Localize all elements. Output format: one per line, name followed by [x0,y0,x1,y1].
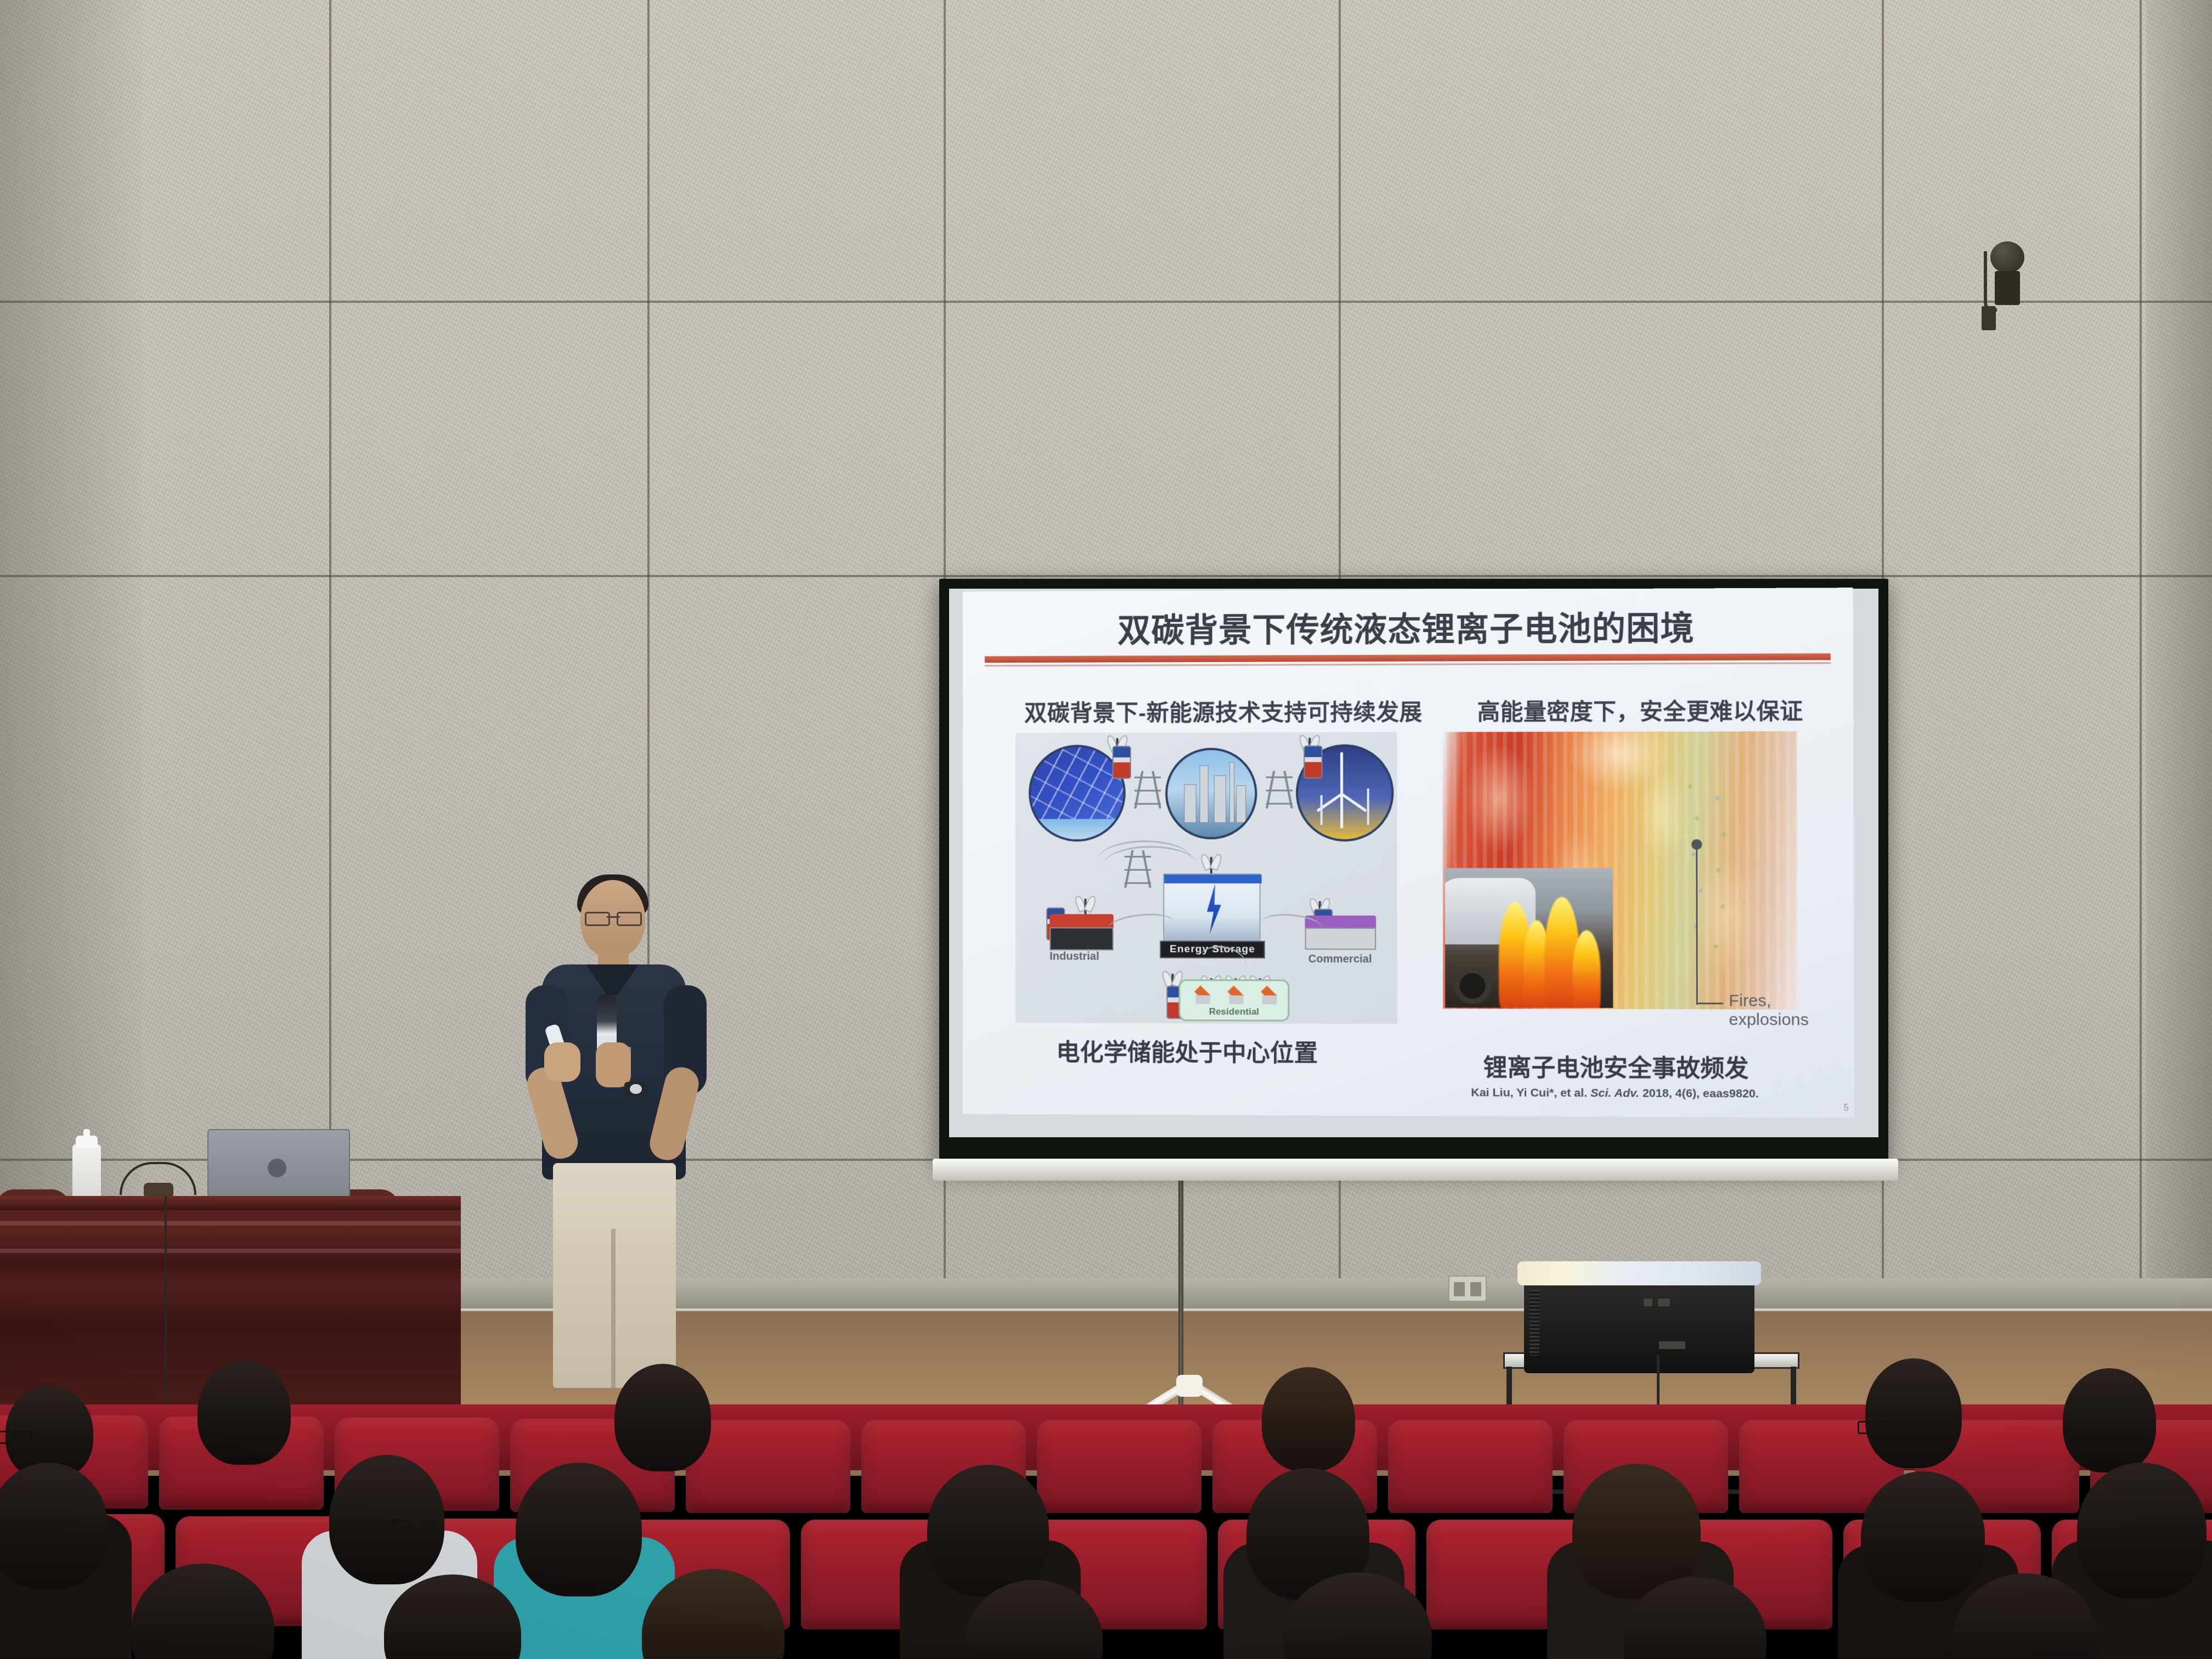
energy-grid-diagram: Energy Storage Industrial Commercial Res… [1015,732,1397,1024]
power-plant-icon [1165,748,1257,839]
podium-top-edge [0,1196,461,1210]
presenter-hand [544,1042,580,1082]
auditorium-seat [1037,1420,1201,1513]
plant-stack [1214,775,1226,822]
energy-storage-unit-icon [1163,873,1261,944]
plant-stack [1184,785,1196,823]
turbine-mast [1340,781,1343,828]
turbine-blade [1341,793,1367,812]
podium-moulding [0,1249,461,1253]
left-column-caption: 电化学储能处于中心位置 [1056,1034,1318,1069]
citation-rest: , 4(6), eaas9820. [1669,1087,1759,1100]
wall-camera [1980,241,2030,329]
industrial-building-icon [1049,914,1113,950]
left-column-heading: 双碳背景下-新能源技术支持可持续发展 [1024,693,1423,727]
right-column-heading: 高能量密度下，安全更难以保证 [1477,692,1803,726]
projector-top-lid [1517,1261,1761,1285]
audience-head [516,1463,642,1596]
camera-mount-foot [1982,306,1996,330]
car-wheel [1454,968,1491,1005]
camera-body [1995,271,2020,305]
wall-power-outlet [1448,1276,1487,1302]
audience-head [1262,1367,1355,1471]
battery-thermal-runaway-figure: Fires, explosions [1443,731,1798,1043]
glasses-icon [1858,1421,1894,1432]
slide-title: 双碳背景下传统液态锂离子电池的困境 [963,601,1853,652]
audience-head [198,1361,291,1465]
lecture-hall-photo: 双碳背景下传统液态锂离子电池的困境 双碳背景下-新能源技术支持可持续发展 高能量… [0,0,2212,1659]
projector-port [1658,1299,1670,1306]
podium-moulding [0,1221,461,1226]
building-roof [1049,914,1113,928]
audience-area [0,1333,2212,1659]
residential-group: Residential [1178,979,1289,1022]
screen-bottom-bar [933,1159,1898,1181]
turbine-blade [1340,752,1343,782]
battery-cells-overlay [1677,770,1745,970]
camera-dome-icon [1990,241,2024,273]
desk-microphone [120,1162,196,1198]
slide-citation: Kai Liu, Yi Cui*, et al. Sci. Adv. 2018,… [1471,1086,1831,1101]
laptop-logo [268,1159,286,1177]
house-icon [1193,988,1212,1004]
glasses-icon [393,1520,437,1532]
callout-leader-line [1696,844,1698,1005]
projector-port [1644,1299,1652,1306]
wristwatch [624,1082,648,1096]
presenter-laptop [207,1129,350,1199]
residential-label: Residential [1181,1006,1288,1018]
signal-antenna-icon [1202,854,1221,872]
citation-journal: Sci. Adv. [1590,1087,1643,1100]
wall-left-shadow [0,0,143,1344]
glasses-icon [0,1431,32,1442]
plant-stack [1229,762,1234,822]
citation-year: 2018 [1643,1087,1669,1100]
glasses-icon [585,912,642,923]
lightning-bolt-icon [1203,883,1225,934]
citation-authors: Kai Liu, Yi Cui*, et al. [1471,1086,1590,1099]
title-accent-rule-shadow [985,662,1831,667]
plant-stack [1200,765,1209,822]
signal-antenna-icon [1076,895,1094,914]
auditorium-seat [1388,1420,1553,1513]
audience-head [927,1465,1049,1596]
fires-explosions-callout: Fires, explosions [1729,991,1809,1029]
power-line [1104,846,1198,884]
battery-icon [1304,746,1322,778]
audience-head [1865,1358,1962,1468]
transmission-tower-icon [1265,771,1294,808]
audience-head [2063,1368,2156,1472]
industrial-label: Industrial [1049,950,1099,963]
solar-panel-icon [1029,745,1126,842]
house-icon [1259,988,1279,1004]
callout-leader-stub [1696,1003,1723,1005]
wall-seam [2140,0,2142,1344]
building-base [1049,927,1113,951]
transmission-tower-icon [1133,771,1162,809]
title-accent-rule [985,653,1831,663]
presenter [516,878,713,1399]
presenter-hand [596,1042,631,1087]
slide-number: 5 [1844,1103,1849,1113]
turbine-mast [1367,788,1369,825]
wall-seam [0,301,2212,303]
wall-seam [0,575,2212,577]
audience-head [2077,1463,2207,1599]
burning-vehicle-photo [1445,868,1613,1008]
wall-right-panel [2146,0,2212,1344]
right-column-caption: 锂离子电池安全事故频发 [1483,1048,1749,1084]
audience-head [1861,1471,1985,1602]
battery-icon [1113,746,1131,779]
flame-shape [1572,930,1600,1008]
presentation-slide: 双碳背景下传统液态锂离子电池的困境 双碳背景下-新能源技术支持可持续发展 高能量… [963,588,1854,1118]
auditorium-seat [686,1420,850,1513]
commercial-label: Commercial [1308,953,1372,966]
turbine-mast [1321,795,1323,825]
water-thermos [72,1144,101,1199]
plant-stack [1236,785,1246,822]
audience-head [614,1364,711,1471]
house-icon [1226,988,1245,1004]
